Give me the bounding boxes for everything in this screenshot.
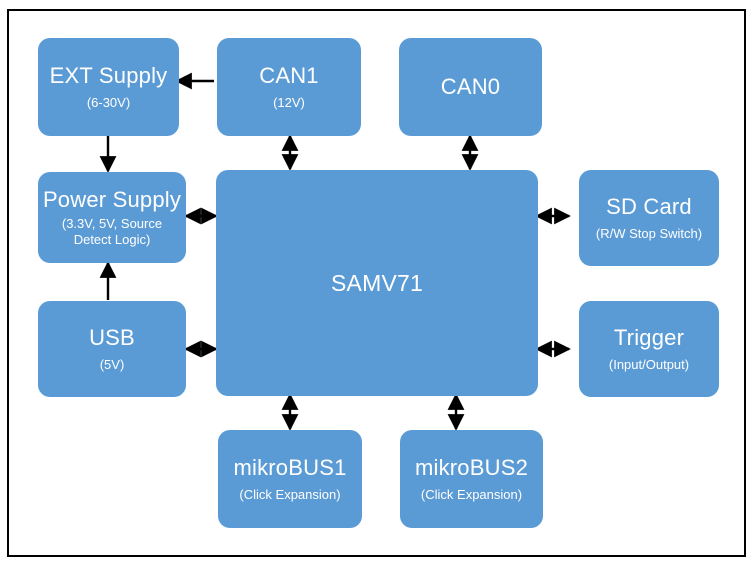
block-usb-title: USB [89, 325, 135, 350]
block-samv71-title: SAMV71 [331, 270, 423, 296]
block-trigger-title: Trigger [614, 325, 684, 350]
block-can1-subtitle: (12V) [273, 95, 305, 111]
block-sd-card-subtitle: (R/W Stop Switch) [596, 226, 702, 242]
block-trigger-subtitle: (Input/Output) [609, 357, 689, 373]
block-trigger[interactable]: Trigger (Input/Output) [579, 301, 719, 397]
block-mikrobus1[interactable]: mikroBUS1 (Click Expansion) [218, 430, 362, 528]
block-can1[interactable]: CAN1 (12V) [217, 38, 361, 136]
block-ext-supply[interactable]: EXT Supply (6-30V) [38, 38, 179, 136]
block-mikrobus1-subtitle: (Click Expansion) [239, 487, 340, 503]
block-samv71[interactable]: SAMV71 [216, 170, 538, 396]
block-ext-supply-title: EXT Supply [50, 63, 168, 88]
block-power-supply-subtitle: (3.3V, 5V, Source Detect Logic) [46, 216, 178, 249]
block-mikrobus2-title: mikroBUS2 [415, 455, 528, 480]
block-power-supply-title: Power Supply [43, 187, 181, 212]
block-can0-title: CAN0 [441, 74, 501, 99]
block-sd-card[interactable]: SD Card (R/W Stop Switch) [579, 170, 719, 266]
block-can1-title: CAN1 [259, 63, 319, 88]
block-ext-supply-subtitle: (6-30V) [87, 95, 130, 111]
block-mikrobus1-title: mikroBUS1 [233, 455, 346, 480]
block-mikrobus2[interactable]: mikroBUS2 (Click Expansion) [400, 430, 543, 528]
diagram-canvas: EXT Supply (6-30V) CAN1 (12V) CAN0 Power… [0, 0, 754, 564]
block-mikrobus2-subtitle: (Click Expansion) [421, 487, 522, 503]
diagram-frame: EXT Supply (6-30V) CAN1 (12V) CAN0 Power… [7, 9, 746, 557]
block-usb-subtitle: (5V) [100, 357, 125, 373]
block-usb[interactable]: USB (5V) [38, 301, 186, 397]
block-can0[interactable]: CAN0 [399, 38, 542, 136]
block-sd-card-title: SD Card [606, 194, 692, 219]
block-power-supply[interactable]: Power Supply (3.3V, 5V, Source Detect Lo… [38, 172, 186, 263]
